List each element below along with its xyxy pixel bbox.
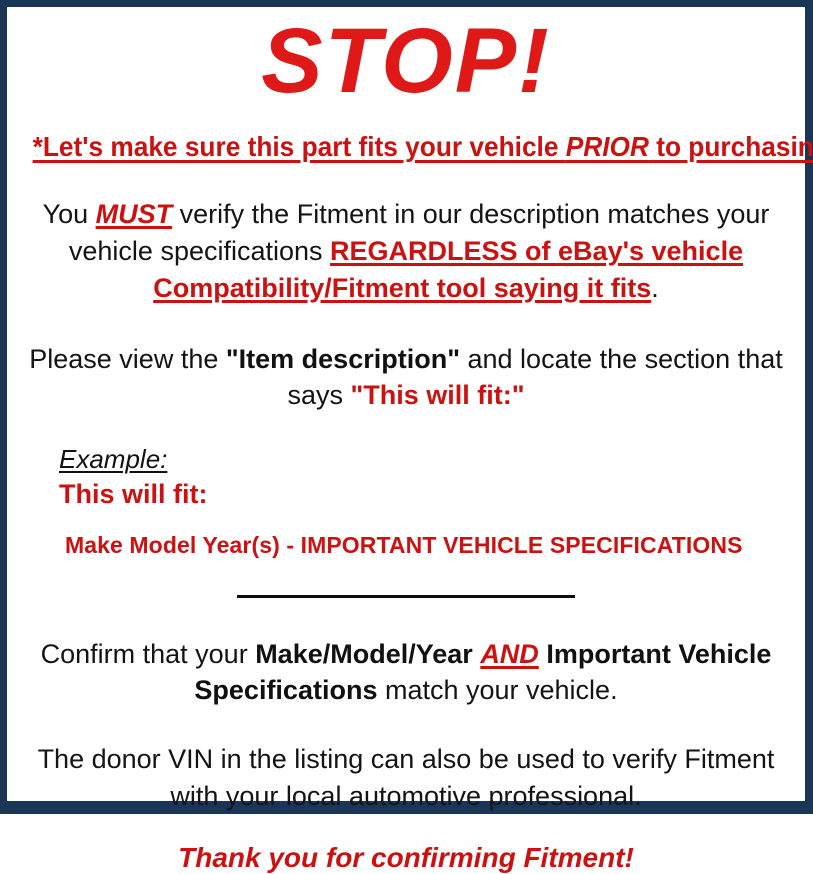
subtitle-banner: *Let's make sure this part fits your veh… bbox=[33, 109, 780, 163]
subtitle-suffix: to purchasing* bbox=[649, 131, 813, 162]
item-description-paragraph: Please view the "Item description" and l… bbox=[21, 307, 791, 414]
example-fit-heading: This will fit: bbox=[59, 475, 797, 510]
confirm-text-part2: match your vehicle. bbox=[377, 675, 617, 705]
and-emphasis: AND bbox=[480, 639, 539, 669]
must-verify-paragraph: You MUST verify the Fitment in our descr… bbox=[26, 162, 786, 306]
fitment-notice-card: STOP! *Let's make sure this part fits yo… bbox=[0, 0, 813, 814]
donor-vin-paragraph: The donor VIN in the listing can also be… bbox=[26, 709, 786, 814]
subtitle-prefix: *Let's make sure this part fits your veh… bbox=[33, 131, 566, 162]
this-will-fit-emphasis: "This will fit:" bbox=[350, 380, 524, 410]
section-divider bbox=[237, 595, 575, 598]
item-description-emphasis: "Item description" bbox=[226, 344, 460, 374]
divider-wrap bbox=[15, 560, 797, 606]
confirm-text-part1: Confirm that your bbox=[41, 639, 256, 669]
must-emphasis: MUST bbox=[96, 199, 173, 229]
example-label: Example: bbox=[59, 444, 167, 475]
example-label-row: Example: bbox=[59, 444, 797, 475]
confirm-paragraph: Confirm that your Make/Model/Year AND Im… bbox=[26, 606, 786, 709]
view-text-part1: Please view the bbox=[29, 344, 226, 374]
must-text-part3: . bbox=[651, 273, 659, 303]
notice-content: STOP! *Let's make sure this part fits yo… bbox=[7, 7, 805, 801]
thank-you-line: Thank you for confirming Fitment! bbox=[15, 815, 797, 874]
example-spec-line: Make Model Year(s) - IMPORTANT VEHICLE S… bbox=[59, 510, 797, 560]
subtitle-emphasis-prior: PRIOR bbox=[566, 131, 649, 162]
example-block: Example: This will fit: Make Model Year(… bbox=[15, 414, 797, 560]
page-title: STOP! bbox=[15, 7, 797, 109]
make-model-year-emphasis: Make/Model/Year bbox=[255, 639, 473, 669]
must-text-part1: You bbox=[43, 199, 96, 229]
